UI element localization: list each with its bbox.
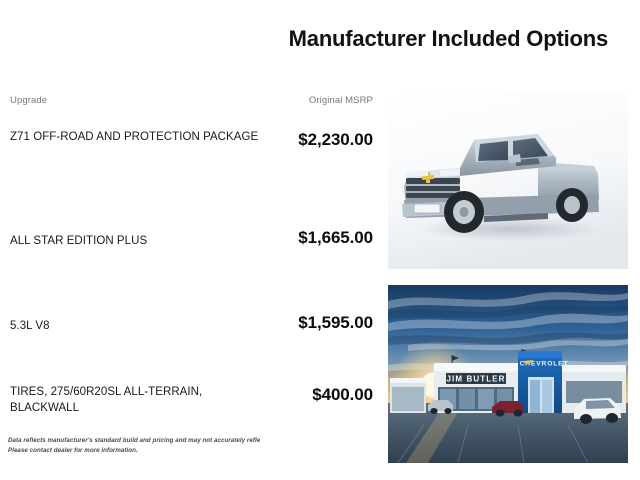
option-price: $1,665.00	[193, 228, 373, 248]
column-header-original-msrp: Original MSRP	[309, 95, 373, 106]
media-column: JIM BUTLER CHEVROLET	[388, 0, 640, 480]
table-header-row: Upgrade Original MSRP	[0, 92, 378, 116]
included-options-table: Upgrade Original MSRP Z71 OFF-ROAD AND P…	[0, 92, 378, 456]
column-header-upgrade: Upgrade	[10, 95, 47, 106]
option-price: $400.00	[193, 385, 373, 405]
vehicle-image	[388, 92, 628, 269]
dealership-building-icon: JIM BUTLER CHEVROLET	[388, 285, 628, 463]
option-price: $2,230.00	[193, 130, 373, 150]
disclaimer-line-1: Data reflects manufacturer's standard bu…	[8, 436, 260, 446]
disclaimer-line-2: Please contact dealer for more informati…	[8, 446, 260, 456]
table-row: ALL STAR EDITION PLUS $1,665.00	[0, 201, 378, 286]
dealership-image: JIM BUTLER CHEVROLET	[388, 285, 628, 463]
pickup-truck-icon	[388, 92, 628, 269]
table-row: 5.3L V8 $1,595.00	[0, 286, 378, 371]
dealership-photo[interactable]: JIM BUTLER CHEVROLET	[388, 285, 628, 463]
svg-text:JIM BUTLER: JIM BUTLER	[447, 375, 506, 384]
disclaimer-text: Data reflects manufacturer's standard bu…	[8, 436, 260, 455]
vehicle-photo[interactable]	[388, 92, 628, 269]
table-row: Z71 OFF-ROAD AND PROTECTION PACKAGE $2,2…	[0, 116, 378, 201]
option-price: $1,595.00	[193, 313, 373, 333]
